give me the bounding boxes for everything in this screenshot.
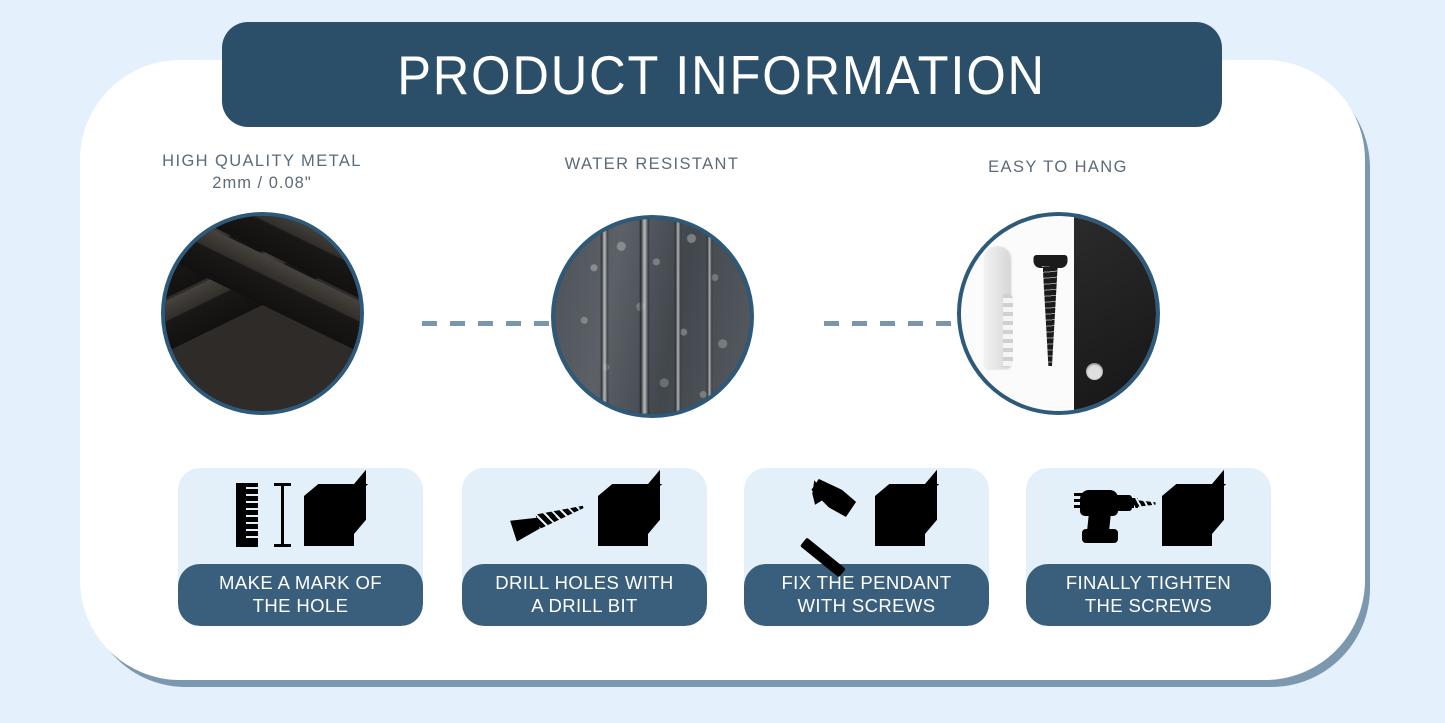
feature-label: HIGH QUALITY METAL: [102, 150, 422, 172]
step-label: FINALLY TIGHTEN THE SCREWS: [1026, 564, 1271, 626]
feature-image-water: [551, 215, 754, 418]
feature-water-resistant: WATER RESISTANT: [492, 153, 812, 418]
step-icons: [178, 468, 423, 564]
feature-label: EASY TO HANG: [898, 156, 1218, 178]
wall-anchor: [984, 247, 1010, 369]
header-banner: PRODUCT INFORMATION: [222, 22, 1222, 127]
step-card-make-a-mark: MAKE A MARK OF THE HOLE: [178, 468, 423, 626]
step-label-line2: A DRILL BIT: [495, 594, 673, 617]
hammer-icon: [797, 482, 861, 548]
page-title: PRODUCT INFORMATION: [398, 43, 1047, 107]
water-streak: [601, 215, 608, 418]
feature-image-hang: [957, 212, 1160, 415]
black-panel: [1074, 216, 1156, 411]
black-box-icon: [875, 484, 937, 546]
power-drill-icon: [1074, 484, 1156, 546]
stacked-black-metal-sheets-photo: [161, 212, 364, 415]
feature-easy-to-hang: EASY TO HANG: [898, 156, 1218, 415]
feature-sublabel: 2mm / 0.08": [102, 172, 422, 194]
step-label-line1: MAKE A MARK OF: [219, 571, 382, 594]
screw-and-wall-anchor-photo: [957, 212, 1160, 415]
feature-high-quality-metal: HIGH QUALITY METAL 2mm / 0.08": [102, 150, 422, 415]
screw-threads: [1041, 266, 1060, 366]
step-label: FIX THE PENDANT WITH SCREWS: [744, 564, 989, 626]
installation-steps-row: MAKE A MARK OF THE HOLE DRILL HOLES WITH…: [80, 468, 1365, 628]
drill-bit-icon: [505, 483, 589, 548]
black-box-icon: [598, 484, 660, 546]
step-label-line2: WITH SCREWS: [781, 594, 951, 617]
step-label: DRILL HOLES WITH A DRILL BIT: [462, 564, 707, 626]
features-row: HIGH QUALITY METAL 2mm / 0.08" WATER RES…: [80, 150, 1365, 440]
step-label-line2: THE HOLE: [219, 594, 382, 617]
step-label-line1: FIX THE PENDANT: [781, 571, 951, 594]
feature-label: WATER RESISTANT: [492, 153, 812, 175]
water-streak: [675, 215, 681, 418]
step-card-fix-the-pendant: FIX THE PENDANT WITH SCREWS: [744, 468, 989, 626]
step-icons: [744, 468, 989, 564]
black-box-icon: [304, 484, 366, 546]
wet-texture-background: [555, 219, 750, 414]
step-label-line1: DRILL HOLES WITH: [495, 571, 673, 594]
black-box-icon: [1162, 484, 1224, 546]
mounting-hole: [1086, 363, 1103, 380]
step-label-line1: FINALLY TIGHTEN: [1066, 571, 1231, 594]
ruler-icon: [236, 483, 290, 547]
step-label-line2: THE SCREWS: [1066, 594, 1231, 617]
step-icons: [462, 468, 707, 564]
step-card-drill-holes: DRILL HOLES WITH A DRILL BIT: [462, 468, 707, 626]
step-label: MAKE A MARK OF THE HOLE: [178, 564, 423, 626]
screw: [1043, 255, 1058, 367]
water-droplets-on-dark-surface-photo: [551, 215, 754, 418]
water-streak: [640, 215, 649, 418]
feature-image-metal: [161, 212, 364, 415]
water-streak: [707, 215, 712, 418]
step-card-finally-tighten: FINALLY TIGHTEN THE SCREWS: [1026, 468, 1271, 626]
step-icons: [1026, 468, 1271, 564]
